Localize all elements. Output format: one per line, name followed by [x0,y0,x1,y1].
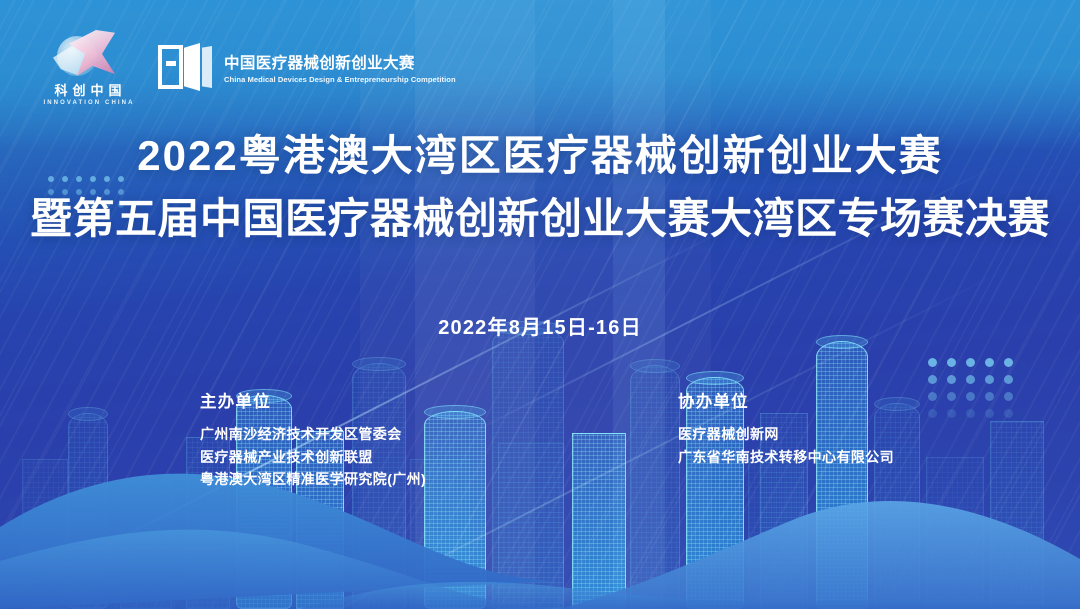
glass-panel [665,0,711,609]
logo-innovation-china-cn: 科创中国 [49,80,126,99]
host-organizer-list: 广州南沙经济技术开发区管委会 医疗器械产业技术创新联盟 粤港澳大湾区精准医学研究… [200,423,426,491]
coorganizer-list: 医疗器械创新网 广东省华南技术转移中心有限公司 [678,423,894,468]
list-item: 医疗器械产业技术创新联盟 [200,446,426,469]
poster-canvas: 科创中国 INNOVATION CHINA 中国医疗器械创新创业大赛 China… [0,0,1080,609]
open-door-logo-icon [158,43,212,91]
bird-swoosh-logo-icon [51,28,125,78]
city-skyline-graphic [0,189,1080,609]
list-item: 医疗器械创新网 [678,423,894,446]
logo-competition-en: China Medical Devices Design & Entrepren… [224,75,456,84]
list-item: 粤港澳大湾区精准医学研究院(广州) [200,468,426,491]
dot-grid-right [928,358,1023,426]
wave-svg [0,409,1080,609]
header-logo-bar: 科创中国 INNOVATION CHINA 中国医疗器械创新创业大赛 China… [40,28,456,106]
logo-competition: 中国医疗器械创新创业大赛 China Medical Devices Desig… [158,43,456,91]
event-date: 2022年8月15日-16日 [0,311,1080,340]
logo-innovation-china-en: INNOVATION CHINA [41,100,134,106]
list-item: 广州南沙经济技术开发区管委会 [200,423,426,446]
coorganizer-block: 协办单位 医疗器械创新网 广东省华南技术转移中心有限公司 [678,388,894,468]
glass-panel [535,0,613,609]
logo-innovation-china: 科创中国 INNOVATION CHINA [40,28,136,106]
host-organizer-block: 主办单位 广州南沙经济技术开发区管委会 医疗器械产业技术创新联盟 粤港澳大湾区精… [200,388,426,491]
logo-competition-cn: 中国医疗器械创新创业大赛 [224,51,456,73]
bottom-wave-graphic [0,409,1080,609]
list-item: 广东省华南技术转移中心有限公司 [678,446,894,469]
host-organizer-heading: 主办单位 [200,388,426,412]
title-block: 2022粤港澳大湾区医疗器械创新创业大赛 暨第五届中国医疗器械创新创业大赛大湾区… [0,132,1080,243]
glass-panel [613,0,665,609]
page-title-line2: 暨第五届中国医疗器械创新创业大赛大湾区专场赛决赛 [0,195,1080,244]
page-title-line1: 2022粤港澳大湾区医疗器械创新创业大赛 [0,132,1080,181]
coorganizer-heading: 协办单位 [678,388,894,412]
